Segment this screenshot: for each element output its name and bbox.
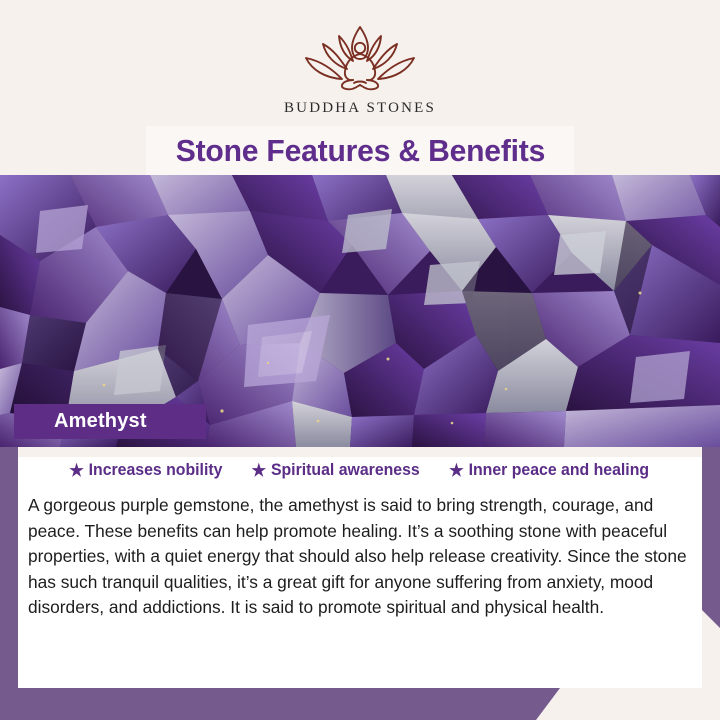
- benefit-item: ★ Increases nobility: [70, 461, 223, 480]
- benefits-list: ★ Increases nobility ★ Spiritual awarene…: [18, 461, 702, 480]
- left-purple-band: [0, 440, 18, 720]
- stone-name-label: Amethyst: [54, 410, 147, 433]
- benefit-item: ★ Inner peace and healing: [449, 461, 649, 480]
- benefit-item: ★ Spiritual awareness: [252, 461, 420, 480]
- star-icon: ★: [449, 462, 464, 479]
- panel-top-tint: [18, 447, 702, 457]
- infographic-card: BUDDHA STONES Stone Features & Benefits: [0, 0, 720, 720]
- star-icon: ★: [252, 462, 267, 479]
- lotus-meditation-icon: [290, 22, 430, 94]
- benefit-label: Increases nobility: [89, 461, 223, 480]
- benefit-label: Spiritual awareness: [271, 461, 420, 480]
- title-banner: Stone Features & Benefits: [146, 126, 574, 176]
- stone-description: A gorgeous purple gemstone, the amethyst…: [28, 493, 688, 621]
- brand-lockup: BUDDHA STONES: [0, 22, 720, 117]
- benefit-label: Inner peace and healing: [469, 461, 649, 480]
- star-icon: ★: [70, 462, 85, 479]
- stone-name-bar: Amethyst: [14, 404, 206, 439]
- bottom-purple-band: [0, 688, 560, 720]
- page-title: Stone Features & Benefits: [175, 133, 544, 169]
- brand-name: BUDDHA STONES: [284, 100, 436, 117]
- content-panel: ★ Increases nobility ★ Spiritual awarene…: [18, 447, 702, 688]
